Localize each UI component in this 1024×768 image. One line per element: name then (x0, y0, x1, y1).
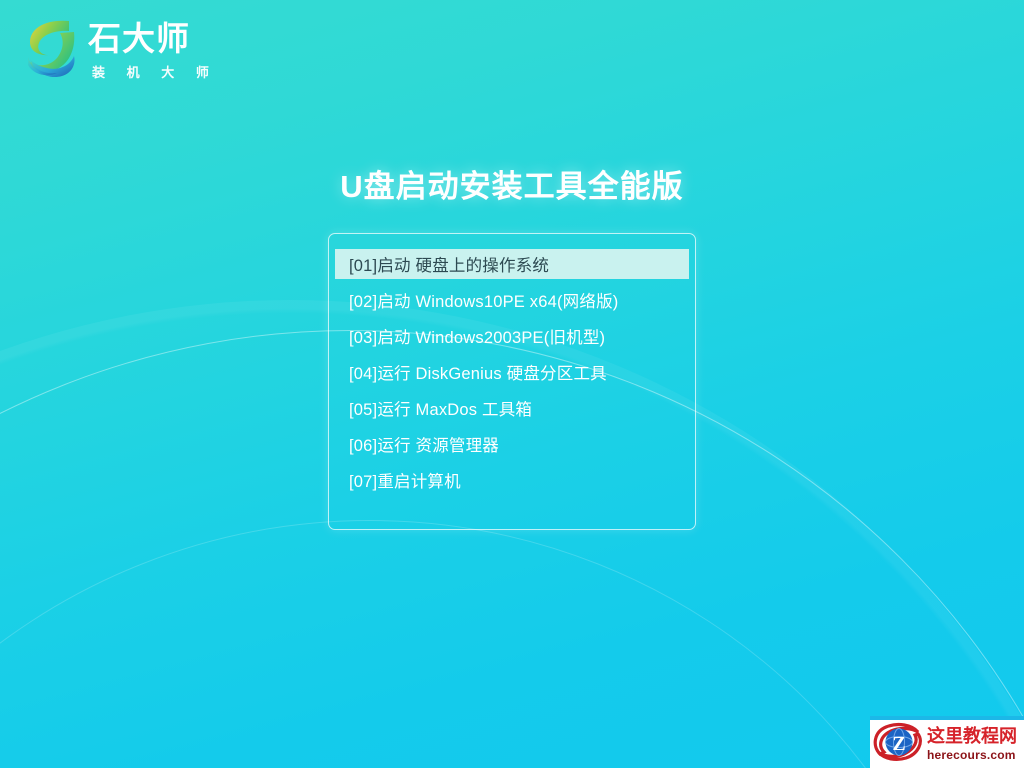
watermark-domain: herecours.com (927, 749, 1017, 761)
menu-item-04[interactable]: [04]运行 DiskGenius 硬盘分区工具 (335, 357, 689, 387)
watermark: Z 这里教程网 herecours.com (870, 716, 1024, 768)
menu-item-01[interactable]: [01]启动 硬盘上的操作系统 (335, 249, 689, 279)
menu-item-06[interactable]: [06]运行 资源管理器 (335, 429, 689, 459)
z-globe-logo-icon: Z (872, 720, 926, 764)
stone-master-logo-icon (24, 16, 80, 88)
menu-item-05[interactable]: [05]运行 MaxDos 工具箱 (335, 393, 689, 423)
svg-text:Z: Z (892, 733, 905, 755)
brand-text-block: 石大师 装 机 大 师 (88, 16, 218, 81)
page-title: U盘启动安装工具全能版 (0, 161, 1024, 206)
brand-name: 石大师 (88, 22, 218, 57)
menu-item-07[interactable]: [07]重启计算机 (335, 465, 689, 495)
boot-menu-list: [01]启动 硬盘上的操作系统[02]启动 Windows10PE x64(网络… (329, 249, 695, 501)
boot-menu-panel: [01]启动 硬盘上的操作系统[02]启动 Windows10PE x64(网络… (328, 233, 696, 530)
boot-menu-screen: 石大师 装 机 大 师 U盘启动安装工具全能版 [01]启动 硬盘上的操作系统[… (0, 0, 1024, 768)
background-arc-line-2 (0, 520, 990, 768)
watermark-text-block: 这里教程网 herecours.com (927, 723, 1017, 761)
watermark-site-name: 这里教程网 (927, 727, 1017, 745)
menu-item-02[interactable]: [02]启动 Windows10PE x64(网络版) (335, 285, 689, 315)
menu-item-03[interactable]: [03]启动 Windows2003PE(旧机型) (335, 321, 689, 351)
brand-subtitle: 装 机 大 师 (88, 62, 218, 81)
brand-logo: 石大师 装 机 大 师 (24, 16, 218, 88)
watermark-top-bar (870, 716, 1024, 720)
